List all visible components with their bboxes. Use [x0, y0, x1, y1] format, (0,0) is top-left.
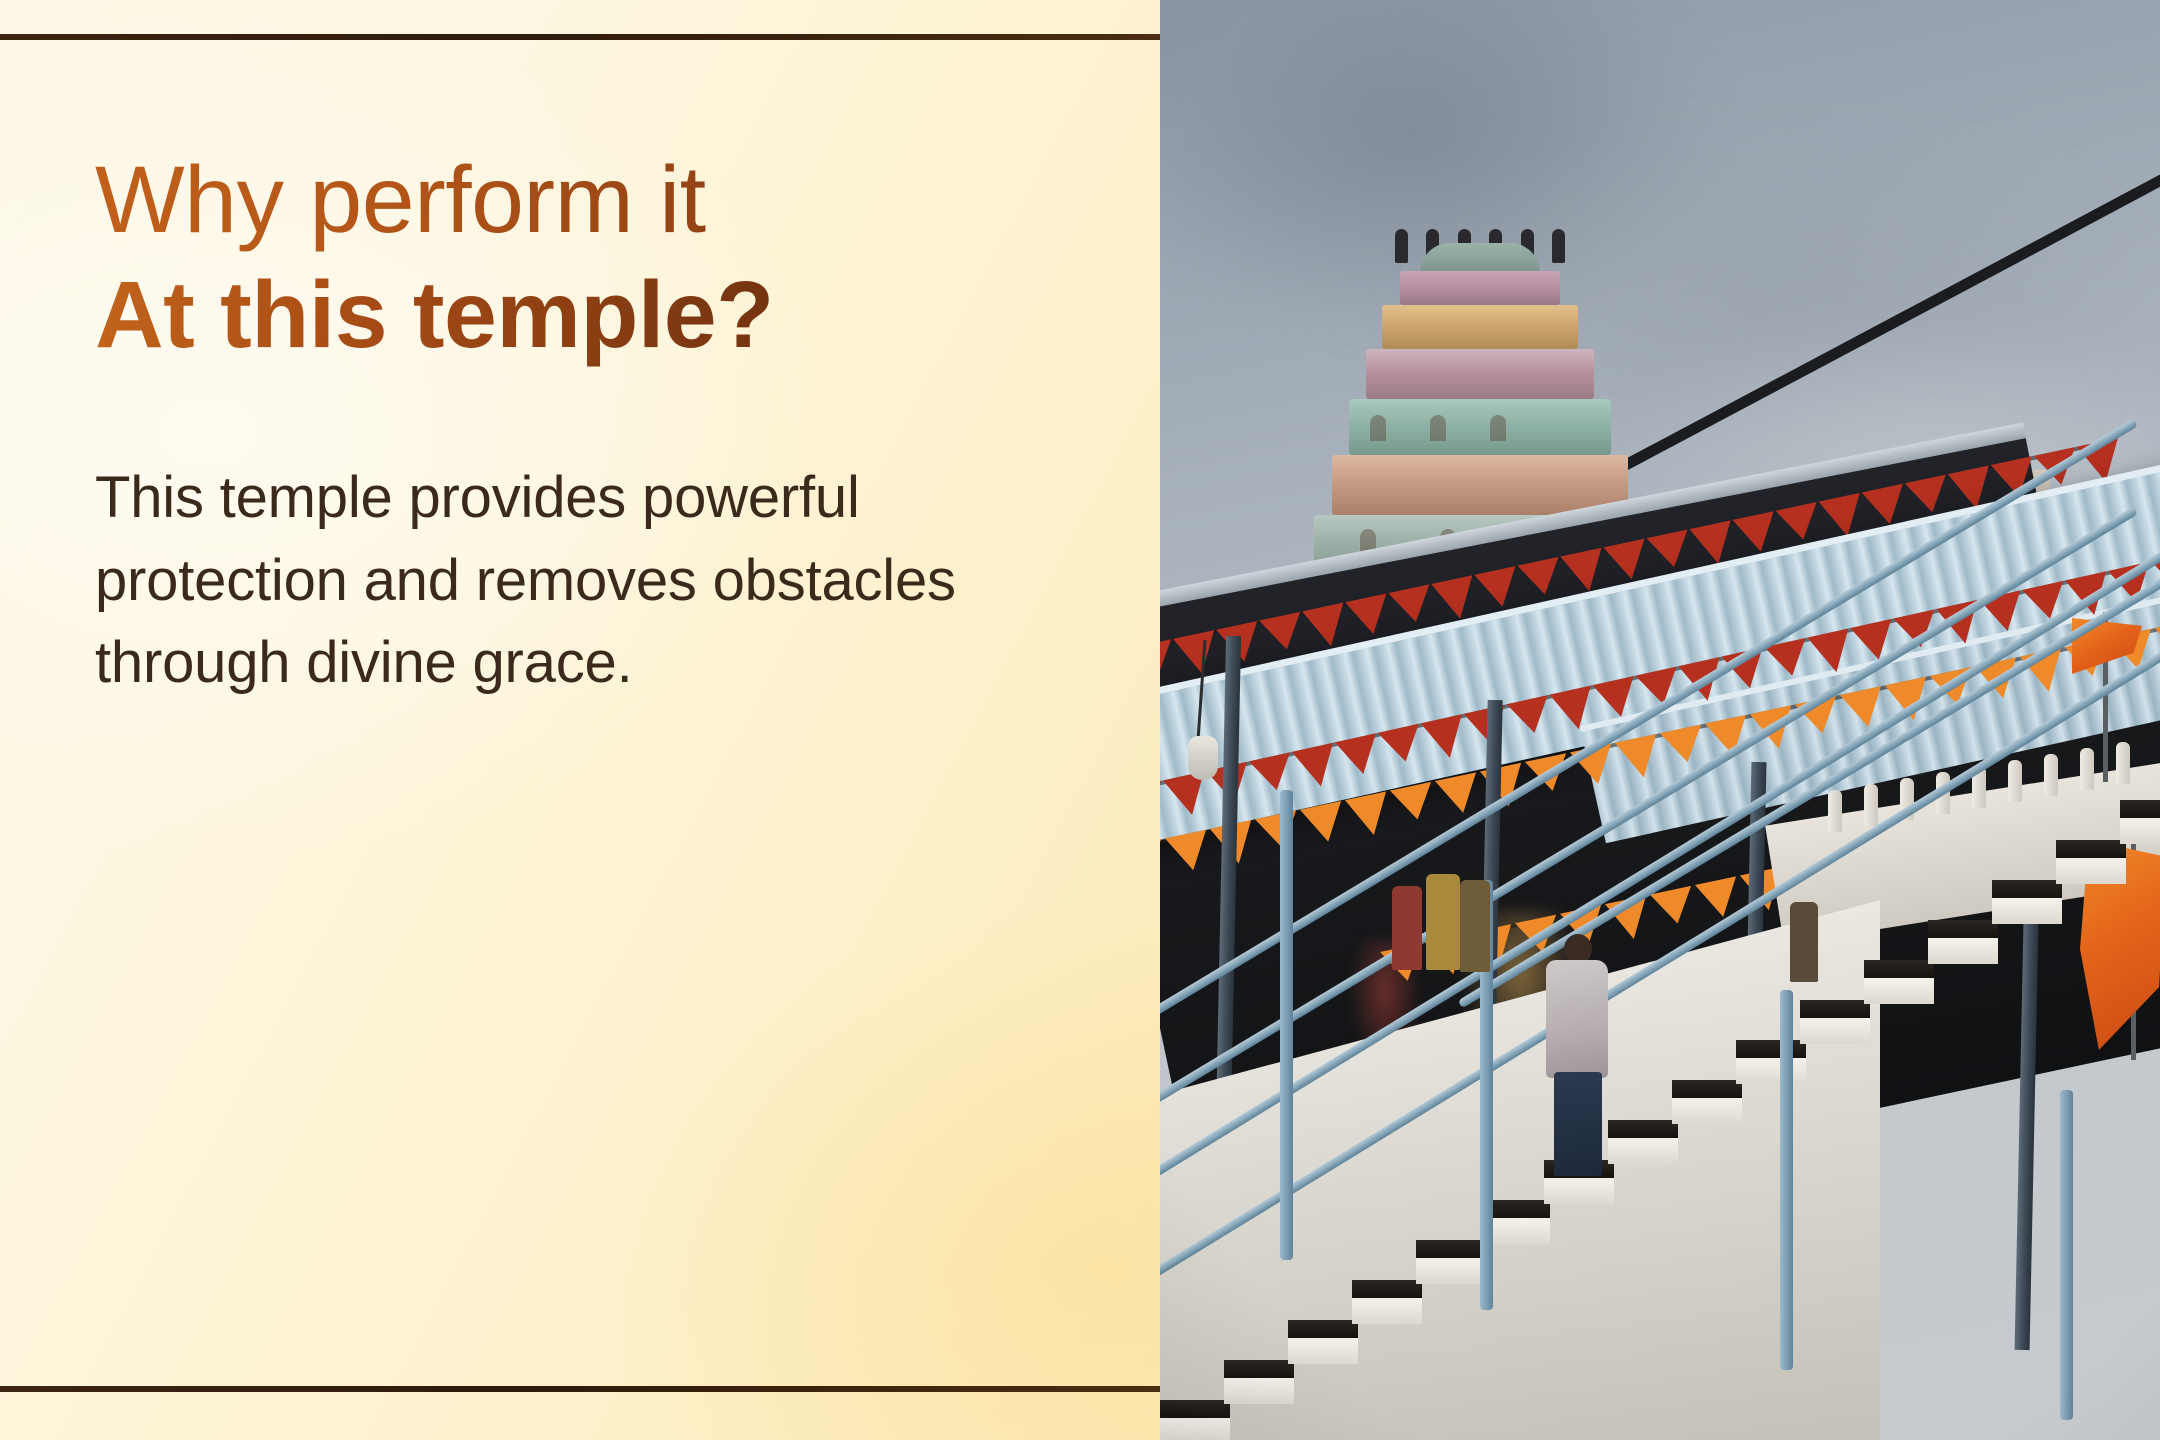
- stair-riser: [1992, 898, 2062, 924]
- devotee-figure: [1538, 960, 1616, 1175]
- bunting-triangle: [1507, 695, 1555, 737]
- kalasam-icon: [1395, 229, 1408, 263]
- bunting-triangle: [1390, 782, 1438, 824]
- baluster: [1864, 784, 1878, 826]
- stair-riser: [1416, 1258, 1486, 1284]
- gopuram-crown: [1420, 243, 1540, 273]
- text-panel: Why perform it At this temple? This temp…: [0, 0, 1160, 1440]
- headline-line-2: At this temple?: [95, 255, 1095, 372]
- bottom-divider-rule: [0, 1386, 1160, 1392]
- bunting-triangle: [1550, 686, 1600, 734]
- gopuram-tier: [1366, 349, 1594, 399]
- stair-tread: [1672, 1080, 1742, 1098]
- stair-tread: [1992, 880, 2062, 898]
- distant-figure: [1426, 874, 1460, 970]
- bunting-triangle: [1302, 603, 1351, 651]
- bunting-triangle: [1905, 475, 1953, 517]
- bunting-triangle: [1474, 566, 1523, 611]
- distant-figure: [1460, 880, 1490, 972]
- text-content: Why perform it At this temple? This temp…: [95, 150, 1095, 704]
- bunting-triangle: [1345, 594, 1394, 639]
- railing-post: [2060, 1090, 2073, 1420]
- baluster: [2044, 754, 2058, 796]
- stair-riser: [1736, 1058, 1806, 1084]
- bunting-triangle: [1388, 584, 1436, 626]
- stair-riser: [1288, 1338, 1358, 1364]
- bunting-triangle: [1517, 557, 1565, 599]
- staircase: [1160, 840, 2160, 1440]
- bunting-triangle: [1335, 733, 1384, 778]
- railing-post: [1280, 790, 1293, 1260]
- stair-tread: [1736, 1040, 1806, 1058]
- bunting-triangle: [1345, 791, 1394, 839]
- slide-root: Why perform it At this temple? This temp…: [0, 0, 2160, 1440]
- kalasam-icon: [1552, 229, 1565, 263]
- stair-tread: [1224, 1360, 1294, 1378]
- stair-tread: [2120, 800, 2160, 818]
- gopuram-niche: [1490, 415, 1506, 441]
- stair-riser: [1672, 1098, 1742, 1124]
- bunting-triangle: [1593, 676, 1642, 721]
- top-divider-rule: [0, 34, 1160, 40]
- stair-riser: [2120, 818, 2160, 844]
- stair-tread: [1288, 1320, 1358, 1338]
- page-title: Why perform it At this temple?: [95, 150, 1095, 371]
- stair-riser: [1928, 938, 1998, 964]
- bunting-triangle: [1435, 772, 1484, 817]
- bunting-triangle: [1615, 734, 1664, 782]
- stair-tread: [1608, 1120, 1678, 1138]
- bunting-triangle: [1421, 714, 1471, 762]
- bunting-triangle: [1378, 724, 1426, 766]
- bunting-triangle: [1259, 612, 1307, 654]
- railing-post: [1780, 990, 1793, 1370]
- headline-line-1: Why perform it: [95, 150, 1095, 255]
- stair-riser: [1224, 1378, 1294, 1404]
- stair-tread: [1800, 1000, 1870, 1018]
- stair-tread: [2056, 840, 2126, 858]
- distant-figure: [1790, 902, 1818, 982]
- gopuram-tier: [1400, 271, 1560, 305]
- stair-tread: [1352, 1280, 1422, 1298]
- baluster: [1828, 790, 1842, 832]
- gopuram-niche: [1370, 415, 1386, 441]
- figure-shirt: [1546, 960, 1608, 1078]
- gopuram-tier: [1349, 399, 1611, 455]
- stair-tread: [1416, 1240, 1486, 1258]
- stair-riser: [1864, 978, 1934, 1004]
- gopuram-tier: [1382, 305, 1578, 349]
- stair-riser: [1544, 1178, 1614, 1204]
- stair-riser: [2056, 858, 2126, 884]
- stair-riser: [1800, 1018, 1870, 1044]
- distant-figure: [1392, 886, 1422, 970]
- stair-tread: [1160, 1400, 1230, 1418]
- bunting-triangle: [1807, 629, 1857, 677]
- bunting-triangle: [1646, 529, 1694, 571]
- stair-tread: [1928, 920, 1998, 938]
- bunting-triangle: [1292, 743, 1342, 791]
- light-bulb-icon: [1188, 736, 1218, 780]
- baluster: [2008, 760, 2022, 802]
- bunting-triangle: [1249, 752, 1297, 794]
- temple-photo: [1160, 0, 2160, 1440]
- stair-tread: [1864, 960, 1934, 978]
- baluster: [2116, 742, 2130, 784]
- stair-riser: [1608, 1138, 1678, 1164]
- bunting-triangle: [1173, 630, 1222, 678]
- body-paragraph: This temple provides powerful protection…: [95, 457, 995, 704]
- stair-riser: [1160, 1418, 1230, 1440]
- stair-riser: [1352, 1298, 1422, 1324]
- bunting-triangle: [1776, 502, 1824, 544]
- figure-legs: [1554, 1072, 1602, 1176]
- bunting-triangle: [1660, 725, 1708, 767]
- bunting-triangle: [1603, 539, 1652, 584]
- gopuram-tier: [1332, 455, 1628, 515]
- baluster: [2080, 748, 2094, 790]
- gopuram-niche: [1430, 415, 1446, 441]
- bunting-triangle: [1431, 575, 1480, 623]
